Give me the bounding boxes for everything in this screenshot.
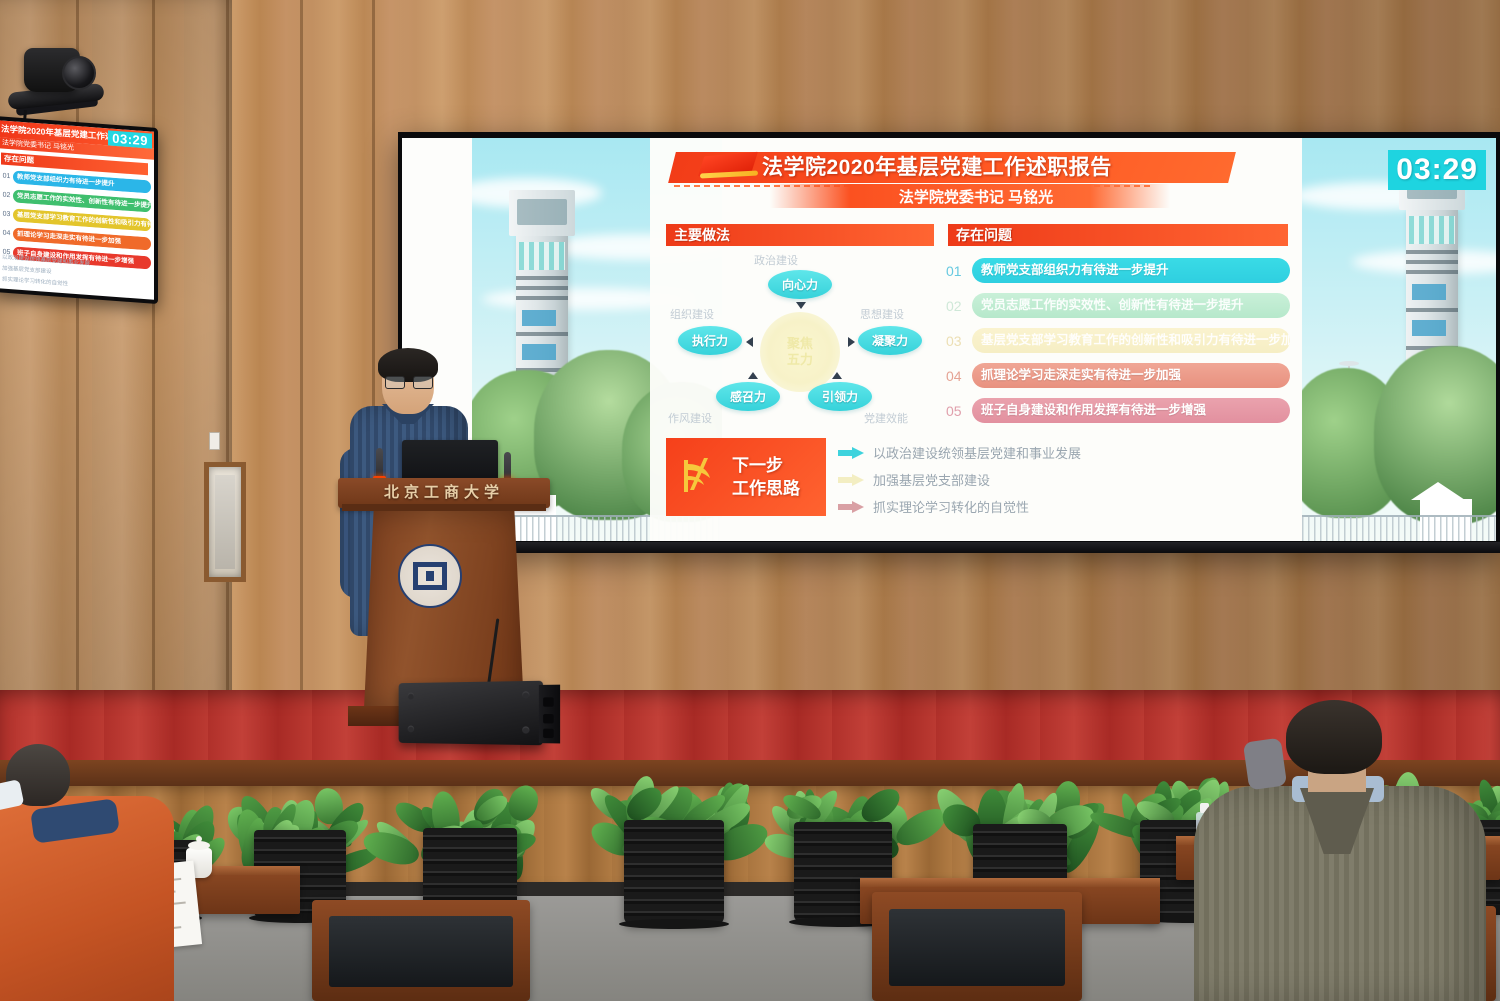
diagram-outer-label: 作风建设 bbox=[668, 410, 712, 426]
arrow-right-icon bbox=[838, 447, 864, 458]
party-emblem-icon bbox=[674, 452, 726, 502]
monitor-issue-number: 02 bbox=[0, 191, 13, 199]
campus-photo-right bbox=[1302, 138, 1496, 541]
issue-text: 教师党支部组织力有待进一步提升 bbox=[972, 258, 1290, 283]
issue-text: 抓理论学习走深走实有待进一步加强 bbox=[972, 363, 1290, 388]
slide-title: 法学院2020年基层党建工作述职报告 bbox=[762, 154, 1232, 182]
monitor-issue-number: 03 bbox=[0, 210, 13, 218]
wall-seam bbox=[300, 0, 303, 770]
next-step-item: 加强基层党支部建设 bbox=[838, 467, 1282, 492]
conference-hall-photo: 法学院2020年基层党建工作述职报告 法学院党委书记 马铭光 03:29 存在问… bbox=[0, 0, 1500, 1001]
countdown-timer: 03:29 bbox=[1388, 150, 1486, 190]
next-step-text: 以政治建设统领基层党建和事业发展 bbox=[873, 443, 1081, 462]
section-header-existing-problems: 存在问题 bbox=[948, 224, 1288, 246]
five-forces-diagram: 聚焦五力 政治建设 向心力 组织建设 执行力 思想建设 凝聚力 作风建设 感召力… bbox=[664, 250, 936, 440]
issue-row: 01教师党支部组织力有待进一步提升 bbox=[946, 256, 1290, 285]
next-step-line1: 下一步 bbox=[732, 454, 800, 477]
diagram-node-left: 执行力 bbox=[678, 326, 742, 355]
screen-bottom-bezel bbox=[398, 542, 1500, 553]
issue-row: 02党员志愿工作的实效性、创新性有待进一步提升 bbox=[946, 291, 1290, 320]
stage-monitor-speaker bbox=[399, 681, 543, 746]
diagram-outer-label: 政治建设 bbox=[754, 252, 798, 268]
podium-university-name: 北京工商大学 bbox=[338, 481, 550, 502]
next-step-item: 抓实理论学习转化的自觉性 bbox=[838, 494, 1282, 519]
face-mask-icon bbox=[1243, 738, 1287, 791]
next-step-text: 抓实理论学习转化的自觉性 bbox=[873, 497, 1029, 516]
audience-chair bbox=[872, 892, 1082, 1001]
next-step-items: 以政治建设统领基层党建和事业发展加强基层党支部建设抓实理论学习转化的自觉性 bbox=[838, 440, 1282, 521]
audience-member-left bbox=[0, 744, 184, 1001]
led-projection-screen: 法学院2020年基层党建工作述职报告 法学院党委书记 马铭光 主要做法 存在问题… bbox=[398, 132, 1500, 550]
next-step-block: 下一步 工作思路 以政治建设统领基层党建和事业发展加强基层党支部建设抓实理论学习… bbox=[666, 438, 1282, 530]
next-step-line2: 工作思路 bbox=[732, 477, 800, 500]
next-step-item: 以政治建设统领基层党建和事业发展 bbox=[838, 440, 1282, 465]
next-step-text: 加强基层党支部建设 bbox=[873, 470, 990, 489]
potted-plant bbox=[370, 752, 570, 920]
flag-icon bbox=[698, 152, 770, 182]
issue-number: 01 bbox=[946, 263, 972, 279]
diagram-node-bottom-right: 引领力 bbox=[808, 382, 872, 411]
issue-text: 基层党支部学习教育工作的创新性和吸引力有待进一步加强 bbox=[972, 328, 1290, 353]
arrow-right-icon bbox=[838, 474, 864, 485]
audience-member-right bbox=[1188, 700, 1488, 1001]
plant-pot bbox=[624, 820, 724, 924]
glasses-icon bbox=[385, 376, 431, 388]
slide-subtitle: 法学院党委书记 马铭光 bbox=[650, 186, 1302, 207]
diagram-center-node: 聚焦五力 bbox=[760, 312, 840, 392]
next-step-badge: 下一步 工作思路 bbox=[666, 438, 826, 516]
confidence-monitor: 法学院2020年基层党建工作述职报告 法学院党委书记 马铭光 03:29 存在问… bbox=[0, 116, 158, 304]
diagram-outer-label: 思想建设 bbox=[860, 306, 904, 322]
issue-number: 05 bbox=[946, 403, 972, 419]
audience-chair bbox=[312, 900, 530, 1001]
arrow-right-icon bbox=[838, 501, 864, 512]
wall-niche bbox=[204, 462, 246, 582]
issue-text: 班子自身建设和作用发挥有待进一步增强 bbox=[972, 398, 1290, 423]
presentation-slide: 法学院2020年基层党建工作述职报告 法学院党委书记 马铭光 主要做法 存在问题… bbox=[650, 138, 1302, 541]
diagram-outer-label: 组织建设 bbox=[670, 306, 714, 322]
university-emblem-icon bbox=[398, 544, 462, 608]
issue-number: 04 bbox=[946, 368, 972, 384]
diagram-outer-label: 党建效能 bbox=[864, 410, 908, 426]
diagram-node-top: 向心力 bbox=[768, 270, 832, 299]
issue-row: 04抓理论学习走深走实有待进一步加强 bbox=[946, 361, 1290, 390]
issue-number: 02 bbox=[946, 298, 972, 314]
monitor-issue-number: 04 bbox=[0, 229, 13, 237]
issues-list: 01教师党支部组织力有待进一步提升02党员志愿工作的实效性、创新性有待进一步提升… bbox=[946, 256, 1290, 431]
issue-row: 05班子自身建设和作用发挥有待进一步增强 bbox=[946, 396, 1290, 425]
wall-sensor-icon bbox=[209, 432, 220, 450]
section-header-main-practices: 主要做法 bbox=[666, 224, 934, 246]
diagram-node-bottom-left: 感召力 bbox=[716, 382, 780, 411]
issue-number: 03 bbox=[946, 333, 972, 349]
monitor-issue-number: 01 bbox=[0, 172, 13, 180]
diagram-node-right: 凝聚力 bbox=[858, 326, 922, 355]
issue-row: 03基层党支部学习教育工作的创新性和吸引力有待进一步加强 bbox=[946, 326, 1290, 355]
issue-text: 党员志愿工作的实效性、创新性有待进一步提升 bbox=[972, 293, 1290, 318]
monitor-timer: 03:29 bbox=[108, 130, 152, 148]
laptop bbox=[402, 440, 498, 480]
